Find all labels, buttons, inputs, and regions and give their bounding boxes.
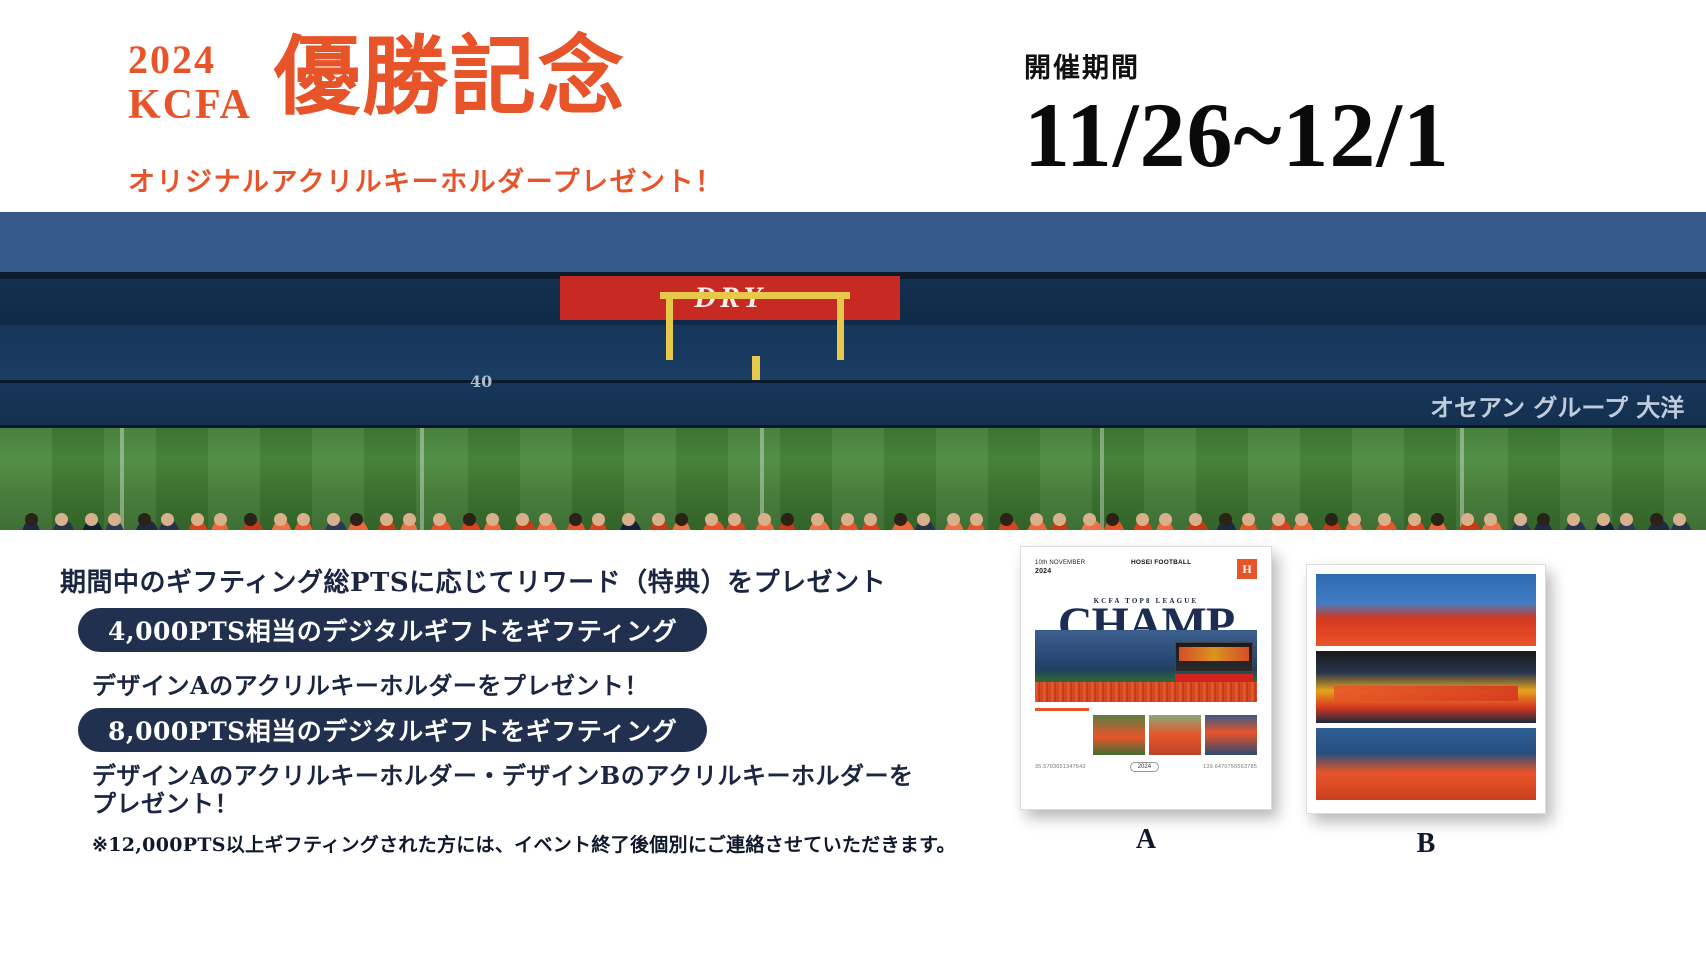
keychain-a-wrapper: 10th NOVEMBER 2024 HOSEI FOOTBALL H KCFA… — [1020, 546, 1272, 856]
rewards-lead-text: 期間中のギフティング総PTSに応じてリワード（特典）をプレゼント — [60, 562, 886, 599]
person-head — [781, 513, 794, 526]
person-head — [1650, 513, 1663, 526]
person-head — [758, 513, 771, 526]
person-head — [652, 513, 665, 526]
person-head — [380, 513, 393, 526]
person-head — [894, 513, 907, 526]
person-head — [161, 513, 174, 526]
person-head — [297, 513, 310, 526]
tier-1-pill: 4,000PTS相当のデジタルギフトをギフティング — [78, 608, 707, 652]
tier-1-description: デザインAのアクリルキーホルダーをプレゼント！ — [92, 666, 649, 701]
person-head — [1189, 513, 1202, 526]
person-head — [1325, 513, 1338, 526]
person-head — [433, 513, 446, 526]
card-a-code-right: 139.6470756563785 — [1203, 764, 1257, 770]
person-head — [569, 513, 582, 526]
person-head — [327, 513, 340, 526]
hosei-logo-icon: H — [1237, 559, 1257, 579]
person-head — [1136, 513, 1149, 526]
tier-2-pill: 8,000PTS相当のデジタルギフトをギフティング — [78, 708, 707, 752]
tier-2-description: デザインAのアクリルキーホルダー・デザインBのアクリルキーホルダーを プレゼント… — [92, 762, 914, 819]
person-head — [1053, 513, 1066, 526]
card-b-panel-2-text-band — [1334, 686, 1519, 702]
page-title: 優勝記念 — [274, 34, 626, 120]
person-head — [1567, 513, 1580, 526]
person-head — [970, 513, 983, 526]
person-head — [728, 513, 741, 526]
goalpost-icon — [660, 268, 850, 360]
card-a-thumb-3 — [1205, 715, 1257, 755]
person-head — [1514, 513, 1527, 526]
keychain-a-image: 10th NOVEMBER 2024 HOSEI FOOTBALL H KCFA… — [1020, 546, 1272, 810]
card-a-footer: 35.5793651347543 2024 139.6470756563785 — [1035, 762, 1257, 772]
person-head — [1000, 513, 1013, 526]
card-a-header: 10th NOVEMBER 2024 HOSEI FOOTBALL H — [1035, 559, 1257, 579]
person-head — [191, 513, 204, 526]
person-head — [463, 513, 476, 526]
person-head — [85, 513, 98, 526]
person-head — [138, 513, 151, 526]
person-head — [25, 513, 38, 526]
person-head — [947, 513, 960, 526]
card-a-date-line1: 10th NOVEMBER — [1035, 559, 1085, 567]
person-head — [1242, 513, 1255, 526]
person-head — [350, 513, 363, 526]
hero-photo: DRY オセアン グループ 大洋 40 — [0, 212, 1706, 530]
person-head — [1219, 513, 1232, 526]
person-head — [274, 513, 287, 526]
header: 2024 KCFA 優勝記念 オリジナルアクリルキーホルダープレゼント！ 開催期… — [0, 0, 1706, 212]
person-head — [1597, 513, 1610, 526]
card-a-date-line2: 2024 — [1035, 568, 1051, 575]
person-head — [1461, 513, 1474, 526]
person-head — [1272, 513, 1285, 526]
card-a-team-row — [1035, 682, 1257, 702]
sponsor-ad-text: オセアン グループ 大洋 — [1430, 388, 1684, 423]
promo-banner: 2024 KCFA 優勝記念 オリジナルアクリルキーホルダープレゼント！ 開催期… — [0, 0, 1706, 960]
card-a-main-photo — [1035, 630, 1257, 702]
person-head — [705, 513, 718, 526]
card-b-panel-1 — [1316, 574, 1536, 646]
period-label: 開催期間 — [1024, 46, 1450, 85]
person-head — [1620, 513, 1633, 526]
period-block: 開催期間 11/26~12/1 — [1024, 46, 1450, 184]
tier-2-description-line1: デザインAのアクリルキーホルダー・デザインBのアクリルキーホルダーを — [92, 762, 914, 790]
title-block: 2024 KCFA 優勝記念 — [128, 34, 626, 126]
person-head — [592, 513, 605, 526]
tier-2-description-line2: プレゼント！ — [92, 790, 914, 818]
person-head — [403, 513, 416, 526]
person-head — [55, 513, 68, 526]
card-a-code-left: 35.5793651347543 — [1035, 764, 1086, 770]
person-head — [244, 513, 257, 526]
keychain-previews: 10th NOVEMBER 2024 HOSEI FOOTBALL H KCFA… — [1010, 546, 1700, 946]
card-a-thumb-1 — [1093, 715, 1145, 755]
person-head — [811, 513, 824, 526]
person-head — [214, 513, 227, 526]
person-head — [1673, 513, 1686, 526]
period-value: 11/26~12/1 — [1024, 87, 1450, 184]
person-head — [1030, 513, 1043, 526]
tier-1-pill-label: 4,000PTS相当のデジタルギフトをギフティング — [108, 612, 677, 648]
keychain-b-label: B — [1306, 828, 1546, 860]
person-head — [864, 513, 877, 526]
person-head — [1484, 513, 1497, 526]
person-head — [841, 513, 854, 526]
person-head — [1083, 513, 1096, 526]
scoreboard-number: 40 — [470, 372, 492, 391]
card-a-date: 10th NOVEMBER 2024 — [1035, 559, 1085, 577]
card-a-scoreboard — [1175, 642, 1253, 672]
person-head — [1106, 513, 1119, 526]
card-a-thumbnails — [1035, 715, 1257, 755]
tier-2-pill-label: 8,000PTS相当のデジタルギフトをギフティング — [108, 712, 677, 748]
year-org-block: 2024 KCFA — [128, 34, 252, 126]
card-b-panel-3 — [1316, 728, 1536, 800]
person-head — [1408, 513, 1421, 526]
upper-deck-seats — [0, 212, 1706, 278]
team-group-photo — [20, 512, 1700, 530]
person-head — [1537, 513, 1550, 526]
person-head — [486, 513, 499, 526]
keychain-a-label: A — [1020, 824, 1272, 856]
subtitle: オリジナルアクリルキーホルダープレゼント！ — [128, 160, 724, 199]
person-head — [539, 513, 552, 526]
card-a-brand: HOSEI FOOTBALL — [1131, 559, 1191, 566]
org-text: KCFA — [128, 84, 252, 126]
person-head — [1431, 513, 1444, 526]
person-head — [675, 513, 688, 526]
person-head — [1159, 513, 1172, 526]
person-head — [516, 513, 529, 526]
person-head — [1348, 513, 1361, 526]
card-a-ad-1 — [1175, 674, 1253, 682]
person-head — [622, 513, 635, 526]
person-head — [108, 513, 121, 526]
card-a-year-badge: 2024 — [1130, 762, 1159, 772]
year-text: 2024 — [128, 40, 252, 80]
person-head — [1378, 513, 1391, 526]
card-a-thumb-2 — [1149, 715, 1201, 755]
card-b-panel-2 — [1316, 651, 1536, 723]
keychain-b-wrapper: B — [1306, 564, 1546, 860]
footnote: ※12,000PTS以上ギフティングされた方には、イベント終了後個別にご連絡させ… — [92, 830, 956, 857]
person-head — [1295, 513, 1308, 526]
keychain-b-image — [1306, 564, 1546, 814]
card-a-accent-rule — [1035, 708, 1089, 711]
person-head — [917, 513, 930, 526]
